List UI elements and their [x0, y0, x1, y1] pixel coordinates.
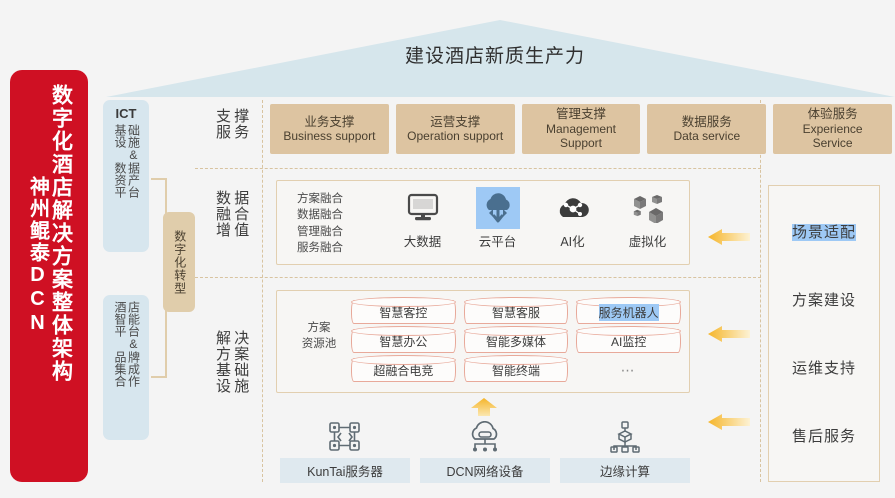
- roof-title: 建设酒店新质生产力: [330, 41, 660, 68]
- ict-label: ICT: [103, 106, 149, 121]
- right-service-item[interactable]: 售后服务: [792, 425, 856, 446]
- support-service-en2: Service: [813, 136, 853, 150]
- cubes-icon: [626, 187, 670, 229]
- resource-pool-item[interactable]: ⋯: [576, 358, 681, 382]
- resource-pool-item-label: 智能多媒体: [486, 333, 546, 350]
- title-banner: 数字化酒店解决方案整体架构 神州鲲泰DCN: [10, 70, 88, 482]
- support-service-zh: 数据服务: [682, 115, 732, 130]
- resource-pool-item-label: 智慧办公: [379, 333, 427, 350]
- support-service-zh: 管理支撑: [556, 107, 606, 122]
- row-label-support-left: 支服: [213, 108, 231, 140]
- support-service-en: Data service: [673, 129, 740, 143]
- resource-pool-item-label: ⋯: [621, 362, 637, 379]
- right-service-label: 场景适配: [792, 224, 856, 241]
- edge-tree-icon: [609, 420, 641, 454]
- fusion-icon-group: 大数据云平台AI化虚拟化: [385, 187, 685, 259]
- infrastructure-label: 边缘计算: [560, 458, 690, 483]
- support-service-en2: Support: [560, 136, 602, 150]
- row-label-fusion: 据合值 数融增: [200, 190, 262, 238]
- cloud-network-icon: [466, 420, 504, 454]
- ai-cloud-icon: [551, 187, 595, 229]
- support-service-card[interactable]: 体验服务ExperienceService: [773, 104, 892, 154]
- fusion-icon-cell[interactable]: 云平台: [466, 187, 530, 250]
- infrastructure-cell[interactable]: KunTai服务器: [280, 420, 410, 490]
- right-service-label: 售后服务: [792, 428, 856, 445]
- resource-pool-item[interactable]: 智慧客控: [351, 300, 456, 324]
- support-service-zh: 体验服务: [808, 107, 858, 122]
- resource-pool-item-label: 超融合电竞: [373, 362, 433, 379]
- resource-pool-item-label: AI监控: [611, 333, 646, 350]
- left-flow-arrow-2: [708, 325, 750, 343]
- ict-platform-box: ICT 础施&据产台 基设 数资平: [103, 100, 149, 252]
- infrastructure-cell[interactable]: 边缘计算: [560, 420, 690, 490]
- hotel-text-col-right: 店能台&牌成作: [126, 301, 139, 387]
- frame-divider-row2: [195, 277, 761, 278]
- row-label-support-right: 撑务: [231, 108, 249, 140]
- fusion-text-line: 方案融合: [297, 191, 343, 207]
- architecture-diagram: 数字化酒店解决方案整体架构 神州鲲泰DCN 建设酒店新质生产力 ICT 础施&据…: [0, 0, 895, 498]
- roof-title-wrap: 建设酒店新质生产力: [330, 41, 660, 68]
- support-service-zh: 业务支撑: [304, 115, 354, 130]
- support-service-en: Operation support: [407, 129, 503, 143]
- right-service-item[interactable]: 运维支持: [792, 357, 856, 378]
- support-service-card[interactable]: 数据服务Data service: [647, 104, 766, 154]
- support-service-zh: 运营支撑: [430, 115, 480, 130]
- resource-pool-item[interactable]: 智能终端: [464, 358, 569, 382]
- resource-pool-label-line: 方案: [291, 321, 347, 337]
- fusion-icon-label: AI化: [560, 231, 584, 250]
- fusion-icon-label: 云平台: [479, 231, 517, 250]
- support-service-en: Management: [546, 122, 616, 136]
- right-service-label: 方案建设: [792, 292, 856, 309]
- support-service-card[interactable]: 运营支撑Operation support: [396, 104, 515, 154]
- cloud-sync-icon: [476, 187, 520, 229]
- right-service-item[interactable]: 场景适配: [792, 221, 856, 242]
- left-flow-arrow-1: [708, 228, 750, 246]
- support-service-card[interactable]: 业务支撑Business support: [270, 104, 389, 154]
- data-fusion-panel: 方案融合数据融合管理融合服务融合 大数据云平台AI化虚拟化: [276, 180, 690, 265]
- fusion-icon-cell[interactable]: 虚拟化: [616, 187, 680, 250]
- fusion-icon-label: 虚拟化: [629, 231, 667, 250]
- infrastructure-label: DCN网络设备: [420, 458, 550, 483]
- row-label-infra-right: 决案础施: [231, 330, 249, 394]
- support-service-card[interactable]: 管理支撑ManagementSupport: [522, 104, 641, 154]
- resource-pool-item[interactable]: 服务机器人: [576, 300, 681, 324]
- fusion-text-line: 管理融合: [297, 224, 343, 240]
- fusion-icon-cell[interactable]: AI化: [541, 187, 605, 250]
- server-cluster-icon: [328, 420, 362, 454]
- fusion-icon-label: 大数据: [404, 231, 442, 250]
- row-label-support: 撑务 支服: [200, 108, 262, 140]
- row-label-infra: 决案础施 解方基设: [200, 330, 262, 394]
- support-service-en: Experience: [803, 122, 863, 136]
- frame-divider-right: [760, 100, 761, 482]
- resource-pool-item-label: 智慧客服: [492, 304, 540, 321]
- left-flow-arrow-3: [708, 413, 750, 431]
- frame-divider-left: [262, 100, 263, 482]
- fusion-text-line: 数据融合: [297, 207, 343, 223]
- resource-pool-label: 方案资源池: [291, 321, 347, 352]
- fusion-icon-cell[interactable]: 大数据: [391, 187, 455, 250]
- digital-transformation-box: 数字化转型: [163, 212, 195, 312]
- resource-pool-grid: 智慧客控智慧客服服务机器人智慧办公智能多媒体AI监控超融合电竞智能终端⋯: [351, 300, 681, 386]
- right-services-panel: 场景适配方案建设运维支持售后服务: [768, 185, 880, 482]
- hotel-text-col-left: 酒智平 品集合: [113, 301, 126, 387]
- row-label-fusion-right: 据合值: [231, 190, 249, 238]
- monitor-icon: [401, 187, 445, 229]
- infrastructure-row: KunTai服务器DCN网络设备边缘计算: [280, 420, 690, 490]
- banner-secondary-title: 神州鲲泰DCN: [26, 84, 47, 336]
- resource-pool-item[interactable]: 智慧办公: [351, 329, 456, 353]
- resource-pool-item[interactable]: 智能多媒体: [464, 329, 569, 353]
- resource-pool-item[interactable]: AI监控: [576, 329, 681, 353]
- resource-pool-item[interactable]: 智慧客服: [464, 300, 569, 324]
- resource-pool-item[interactable]: 超融合电竞: [351, 358, 456, 382]
- resource-pool-label-line: 资源池: [291, 337, 347, 353]
- right-service-label: 运维支持: [792, 360, 856, 377]
- resource-pool-panel: 方案资源池 智慧客控智慧客服服务机器人智慧办公智能多媒体AI监控超融合电竞智能终…: [276, 290, 690, 393]
- support-services-row: 业务支撑Business support运营支撑Operation suppor…: [270, 104, 892, 154]
- row-label-infra-left: 解方基设: [213, 330, 231, 394]
- right-service-item[interactable]: 方案建设: [792, 289, 856, 310]
- resource-pool-item-label: 智能终端: [492, 362, 540, 379]
- hotel-platform-box: 店能台&牌成作 酒智平 品集合: [103, 295, 149, 440]
- frame-divider-row1: [195, 168, 761, 169]
- fusion-text-line: 服务融合: [297, 240, 343, 256]
- digital-transformation-label: 数字化转型: [172, 230, 185, 295]
- fusion-text-lines: 方案融合数据融合管理融合服务融合: [297, 191, 343, 256]
- infrastructure-label: KunTai服务器: [280, 458, 410, 483]
- banner-primary-title: 数字化酒店解决方案整体架构: [49, 84, 71, 383]
- resource-pool-item-label: 服务机器人: [599, 304, 659, 321]
- row-label-fusion-left: 数融增: [213, 190, 231, 238]
- support-service-en: Business support: [283, 129, 375, 143]
- resource-pool-item-label: 智慧客控: [379, 304, 427, 321]
- upward-flow-arrow: [471, 398, 497, 416]
- infrastructure-cell[interactable]: DCN网络设备: [420, 420, 550, 490]
